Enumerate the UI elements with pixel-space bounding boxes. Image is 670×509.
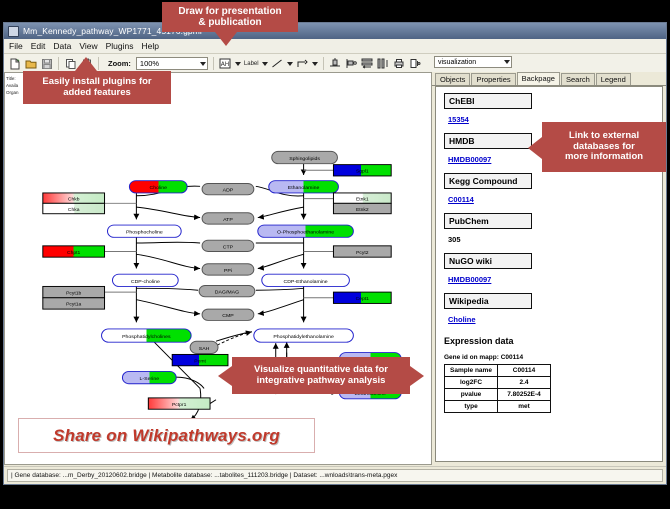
menu-item-edit[interactable]: Edit <box>31 41 46 51</box>
callout-line-2: & publication <box>198 17 261 29</box>
gene-node-ethk2[interactable]: Etnk2 <box>333 203 391 213</box>
expression-data-heading: Expression data <box>444 336 654 346</box>
callout-line-1: Easily install plugins for <box>42 77 151 88</box>
metabolite-node-sphingolipids[interactable]: Sphingolipids <box>272 151 338 163</box>
metabolite-node-ptdeth[interactable]: Phosphatidylethanolamine <box>254 329 354 342</box>
align-left-icon[interactable] <box>345 57 358 70</box>
db-link-wikipedia[interactable]: Choline <box>448 315 476 324</box>
shape-dropdown-icon[interactable] <box>235 62 241 66</box>
metabolite-node-lserine_left[interactable]: L-Serine <box>122 371 176 383</box>
expr-val-1: 2.4 <box>498 377 551 389</box>
toolbar-separator-4 <box>323 57 324 70</box>
screenshot-root: Mm_Kennedy_pathway_WP1771_45176.gpml Fil… <box>0 0 670 509</box>
node-label: Pcyt1b <box>66 290 82 296</box>
node-label: Choline <box>150 185 168 191</box>
menu-item-help[interactable]: Help <box>142 41 159 51</box>
menu-item-plugins[interactable]: Plugins <box>106 41 134 51</box>
table-row: log2FC 2.4 <box>445 377 551 389</box>
side-panel-tabs: Objects Properties Backpage Search Legen… <box>432 72 666 86</box>
callout-line-3: more information <box>565 152 643 163</box>
gene-node-pcyt1[interactable]: Pctpr1 <box>148 398 210 409</box>
db-header-hmdb: HMDB <box>444 133 532 149</box>
node-label: Phosphatidylcholines <box>122 334 171 340</box>
db-header-wikipedia: Wikipedia <box>444 293 532 309</box>
db-link-nugo[interactable]: HMDB00097 <box>448 275 491 284</box>
db-link-chebi[interactable]: 15354 <box>448 115 469 124</box>
gene-node-pcyt1b[interactable]: Pcyt1b <box>43 286 105 297</box>
callout-links-arrow-icon <box>528 137 542 159</box>
menu-item-data[interactable]: Data <box>53 41 71 51</box>
toolbar-separator-3 <box>213 57 214 70</box>
expr-key-0: Sample name <box>445 365 498 377</box>
callout-line-1: Link to external <box>569 131 639 142</box>
node-label: O-Phosphoethanolamine <box>277 230 334 236</box>
callout-line-1: Draw for presentation <box>178 6 281 18</box>
gene-node-pcyt2[interactable]: Pcyt2 <box>333 246 391 257</box>
node-label: Chpt1 <box>67 250 81 256</box>
label-tool-label[interactable]: Label <box>244 61 259 67</box>
svg-text:AH: AH <box>221 61 230 68</box>
expr-key-3: type <box>445 401 498 413</box>
metabolite-node-ptdcholine[interactable]: Phosphatidylcholines <box>102 329 192 342</box>
node-label: CDP-choline <box>131 279 160 285</box>
connector-tool-icon[interactable] <box>296 57 309 70</box>
gene-node-chkb[interactable]: Chkb <box>43 193 105 203</box>
gene-id-label: Gene id on mapp: C00114 <box>444 354 654 361</box>
print-icon[interactable] <box>393 57 406 70</box>
expr-val-2: 7.80252E-4 <box>498 389 551 401</box>
tab-objects[interactable]: Objects <box>435 73 470 85</box>
save-file-icon[interactable] <box>40 57 53 70</box>
visualization-value: visualization <box>438 59 476 66</box>
visualization-combobox[interactable]: visualization <box>434 56 512 68</box>
metabolite-node-ethanolamine[interactable]: Ethanolamine <box>269 181 339 193</box>
node-label: Pemt <box>194 358 206 364</box>
metabolite-node-atp[interactable]: ATP <box>202 213 254 224</box>
toolbar-separator-2 <box>98 57 99 70</box>
callout-line-2: added features <box>63 88 131 99</box>
open-file-icon[interactable] <box>24 57 37 70</box>
chevron-down-icon <box>504 60 510 64</box>
node-label: SAH <box>199 346 210 352</box>
chevron-down-icon <box>200 62 206 66</box>
zoom-value: 100% <box>140 59 159 68</box>
table-row: Sample name C00114 <box>445 365 551 377</box>
line-dropdown-icon[interactable] <box>287 62 293 66</box>
callout-link-external-databases: Link to external databases for more info… <box>542 122 666 172</box>
node-label: Pcyt2 <box>356 250 369 256</box>
zoom-combobox[interactable]: 100% <box>136 57 208 70</box>
distribute-vertical-icon[interactable] <box>377 57 390 70</box>
node-label: Pcyt1a <box>66 302 82 308</box>
zoom-label: Zoom: <box>108 59 131 68</box>
tab-backpage[interactable]: Backpage <box>517 72 560 85</box>
node-label: Sphingolipids <box>289 156 320 162</box>
metabolite-node-sam[interactable]: SAH <box>190 341 218 353</box>
callout-draw-for-publication: Draw for presentation & publication <box>162 2 298 32</box>
shape-tool-icon[interactable]: AH <box>219 57 232 70</box>
tab-properties[interactable]: Properties <box>471 73 515 85</box>
expr-val-0: C00114 <box>498 365 551 377</box>
gene-node-pcyt1a[interactable]: Pcyt1a <box>43 298 105 309</box>
gene-node-chpt1[interactable]: Chpt1 <box>43 246 105 257</box>
callout-line-2: integrative pathway analysis <box>257 376 386 387</box>
callout-visualize-quantitative-data: Visualize quantitative data for integrat… <box>232 357 410 394</box>
page-setup-icon[interactable] <box>409 57 422 70</box>
callout-install-plugins: Easily install plugins for added feature… <box>23 71 171 104</box>
gene-node-ethk1[interactable]: Etnk1 <box>333 193 391 203</box>
node-label: CTP <box>223 244 234 250</box>
metabolite-node-choline_top[interactable]: Choline <box>129 181 187 193</box>
callout-line-1: Visualize quantitative data for <box>254 365 388 376</box>
node-label: ATP <box>223 217 233 223</box>
metabolite-node-cdp_choline[interactable]: CDP-choline <box>112 274 178 286</box>
label-dropdown-icon[interactable] <box>262 62 268 66</box>
tab-legend[interactable]: Legend <box>596 73 631 85</box>
node-label: DAG/MAG <box>215 290 239 296</box>
node-label: PPi <box>224 268 232 274</box>
toolbar-separator <box>58 57 59 70</box>
node-label: CMP <box>222 313 234 319</box>
share-text: Share on Wikipathways.org <box>53 426 280 446</box>
status-text: | Gene database: ...m_Derby_20120602.bri… <box>7 469 663 482</box>
expr-key-2: pvalue <box>445 389 498 401</box>
callout-visualize-right-arrow-icon <box>410 366 424 386</box>
node-label: Ethanolamine <box>288 185 320 191</box>
metabolite-node-ppi[interactable]: PPi <box>202 264 254 275</box>
node-label: Pctpr1 <box>172 402 187 408</box>
tab-search[interactable]: Search <box>561 73 595 85</box>
node-label: Etnk2 <box>356 207 369 213</box>
callout-share-wikipathways: Share on Wikipathways.org <box>18 418 315 453</box>
line-tool-icon[interactable] <box>271 57 284 70</box>
gene-node-sgpl1[interactable]: Sgpl1 <box>333 165 391 176</box>
metabolite-node-ctp[interactable]: CTP <box>202 240 254 251</box>
metabolite-node-adp[interactable]: ADP <box>202 184 254 195</box>
connector-dropdown-icon[interactable] <box>312 62 318 66</box>
gene-node-pemt[interactable]: Pemt <box>172 354 228 365</box>
pathway-diagram[interactable]: CholinePhosphocholineCDP-cholinePhosphat… <box>5 73 431 464</box>
node-label: Chkb <box>68 197 80 203</box>
node-label: L-Serine <box>140 376 160 382</box>
db-header-kegg: Kegg Compound <box>444 173 532 189</box>
db-value-pubchem: 305 <box>448 235 461 244</box>
callout-draw-arrow-icon <box>215 32 237 46</box>
callout-visualize-arrow-icon <box>218 366 232 386</box>
new-file-icon[interactable] <box>8 57 21 70</box>
title-bar: Mm_Kennedy_pathway_WP1771_45176.gpml <box>4 23 666 39</box>
callout-plugins-arrow-icon <box>75 57 97 71</box>
metabolite-node-cmp[interactable]: CMP <box>202 309 254 320</box>
metabolite-node-phosphocholine[interactable]: Phosphocholine <box>108 225 182 237</box>
metabolite-node-ophospho_eth[interactable]: O-Phosphoethanolamine <box>258 225 354 237</box>
node-label: Chka <box>68 207 80 213</box>
table-row: pvalue 7.80252E-4 <box>445 389 551 401</box>
pathway-canvas-pane[interactable]: Title: Availa Organ <box>4 72 432 465</box>
menu-item-view[interactable]: View <box>79 41 97 51</box>
app-icon <box>8 26 19 37</box>
node-label: Etnk1 <box>356 197 369 203</box>
gene-node-chka[interactable]: Chka <box>43 203 105 213</box>
menu-item-file[interactable]: File <box>9 41 23 51</box>
menu-bar: File Edit Data View Plugins Help <box>4 39 666 54</box>
node-label: Cept1 <box>356 296 370 302</box>
db-header-pubchem: PubChem <box>444 213 532 229</box>
node-label: ADP <box>223 188 234 194</box>
gene-node-cept1[interactable]: Cept1 <box>333 292 391 303</box>
distribute-horizontal-icon[interactable] <box>361 57 374 70</box>
node-label: Phosphatidylethanolamine <box>273 334 334 340</box>
expr-key-1: log2FC <box>445 377 498 389</box>
status-bar: | Gene database: ...m_Derby_20120602.bri… <box>4 466 666 484</box>
node-label: CDP-Ethanolamine <box>283 279 327 285</box>
expr-val-3: met <box>498 401 551 413</box>
align-top-icon[interactable] <box>329 57 342 70</box>
expression-table: Sample name C00114 log2FC 2.4 pvalue 7.8… <box>444 364 551 413</box>
metabolite-node-cdp_eth[interactable]: CDP-Ethanolamine <box>262 274 350 286</box>
node-label: Sgpl1 <box>356 169 369 175</box>
metabolite-node-dagmag[interactable]: DAG/MAG <box>199 286 255 297</box>
node-label: Phosphocholine <box>126 230 163 236</box>
table-row: type met <box>445 401 551 413</box>
db-link-hmdb[interactable]: HMDB00097 <box>448 155 491 164</box>
db-link-kegg[interactable]: C00114 <box>448 195 474 204</box>
db-header-nugo: NuGO wiki <box>444 253 532 269</box>
db-header-chebi: ChEBI <box>444 93 532 109</box>
